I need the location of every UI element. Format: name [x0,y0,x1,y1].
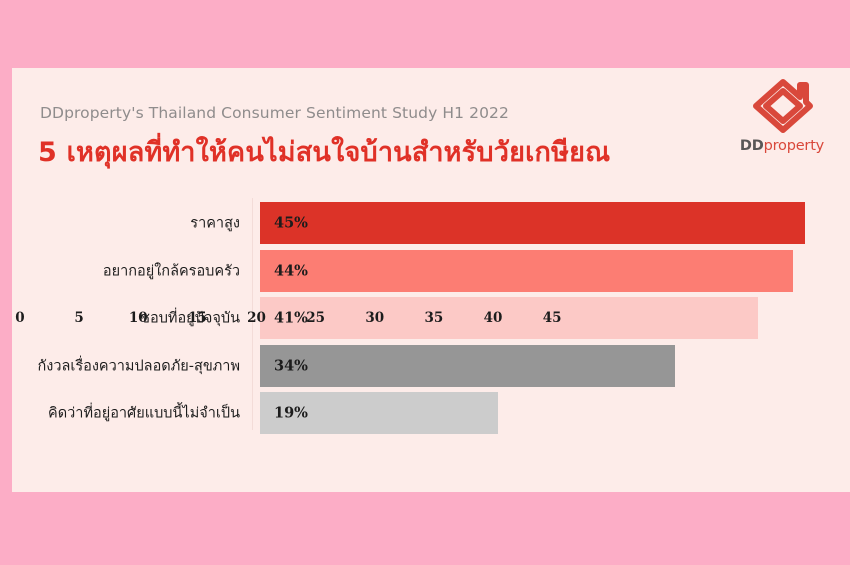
infographic-card: DDproperty's Thailand Consumer Sentiment… [12,68,850,492]
x-axis-tick-label: 20 [247,310,266,326]
bar-category-label: คิดว่าที่อยู่อาศัยแบบนี้ไม่จำเป็น [48,402,240,425]
bar-chart: ราคาสูง45%อยากอยู่ใกล้ครอบครัว44%ชอบที่อ… [12,68,850,492]
bar-value-label: 45% [274,215,308,232]
x-axis-tick-label: 5 [74,310,83,326]
x-axis-tick-label: 30 [365,310,384,326]
bar-category-label: ราคาสูง [190,212,240,235]
bar-row: คิดว่าที่อยู่อาศัยแบบนี้ไม่จำเป็น19% [252,392,796,434]
x-axis-tick-label: 45 [543,310,562,326]
x-axis-tick-label: 0 [15,310,24,326]
bar[interactable]: 19% [260,392,498,434]
bar-category-label: อยากอยู่ใกล้ครอบครัว [103,259,240,282]
bar-value-label: 19% [274,405,308,422]
bar-row: ราคาสูง45% [252,202,796,244]
bar-category-label: กังวลเรื่องความปลอดภัย-สุขภาพ [38,354,240,377]
bar[interactable]: 34% [260,345,675,387]
bar-value-label: 44% [274,262,308,279]
bar-value-label: 34% [274,357,308,374]
bar[interactable]: 45% [260,202,805,244]
x-axis-tick-label: 25 [306,310,325,326]
bar-row: กังวลเรื่องความปลอดภัย-สุขภาพ34% [252,345,796,387]
bar-row: อยากอยู่ใกล้ครอบครัว44% [252,250,796,292]
bar[interactable]: 44% [260,250,793,292]
x-axis-tick-label: 35 [425,310,444,326]
x-axis-tick-label: 15 [188,310,207,326]
x-axis: 051015202530354045 [12,300,556,330]
x-axis-tick-label: 40 [484,310,503,326]
infographic-canvas: DDproperty's Thailand Consumer Sentiment… [0,0,850,565]
x-axis-tick-label: 10 [129,310,148,326]
